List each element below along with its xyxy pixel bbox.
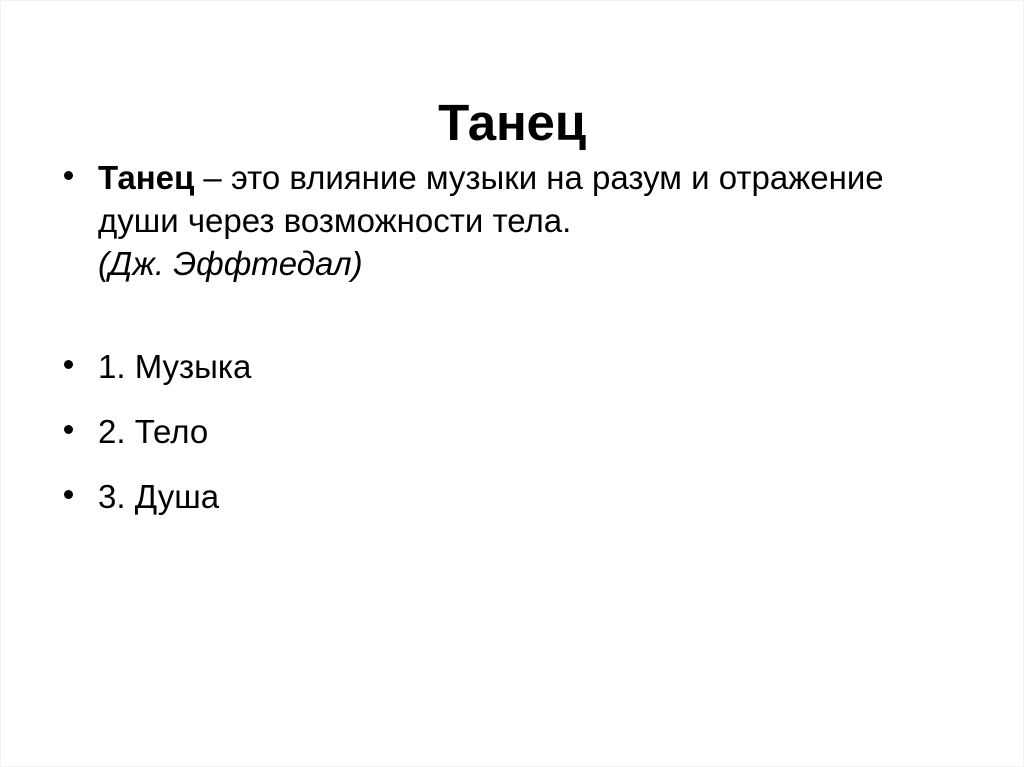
list-item-label: 1. Музыка — [98, 348, 251, 385]
list-item-label: 3. Душа — [98, 478, 219, 515]
slide: Танец Танец – это влияние музыки на разу… — [0, 0, 1024, 767]
quote-block: Танец – это влияние музыки на разум и от… — [56, 156, 956, 285]
quote-lead-term: Танец — [98, 159, 194, 196]
blank-line — [56, 285, 956, 345]
quote-dash: – — [194, 159, 231, 196]
bullet-icon — [64, 360, 73, 369]
list-item: 1. Музыка — [56, 345, 956, 388]
bullet-icon — [64, 171, 73, 180]
bullet-icon — [64, 490, 73, 499]
slide-body: Танец – это влияние музыки на разум и от… — [56, 156, 956, 540]
page-title: Танец — [1, 93, 1023, 152]
list-item: 3. Душа — [56, 475, 956, 518]
quote-attribution: (Дж. Эффтедал) — [98, 242, 956, 285]
quote-text: Танец – это влияние музыки на разум и от… — [98, 156, 928, 242]
list-item: 2. Тело — [56, 410, 956, 453]
bullet-icon — [64, 425, 73, 434]
list-item-label: 2. Тело — [98, 413, 208, 450]
